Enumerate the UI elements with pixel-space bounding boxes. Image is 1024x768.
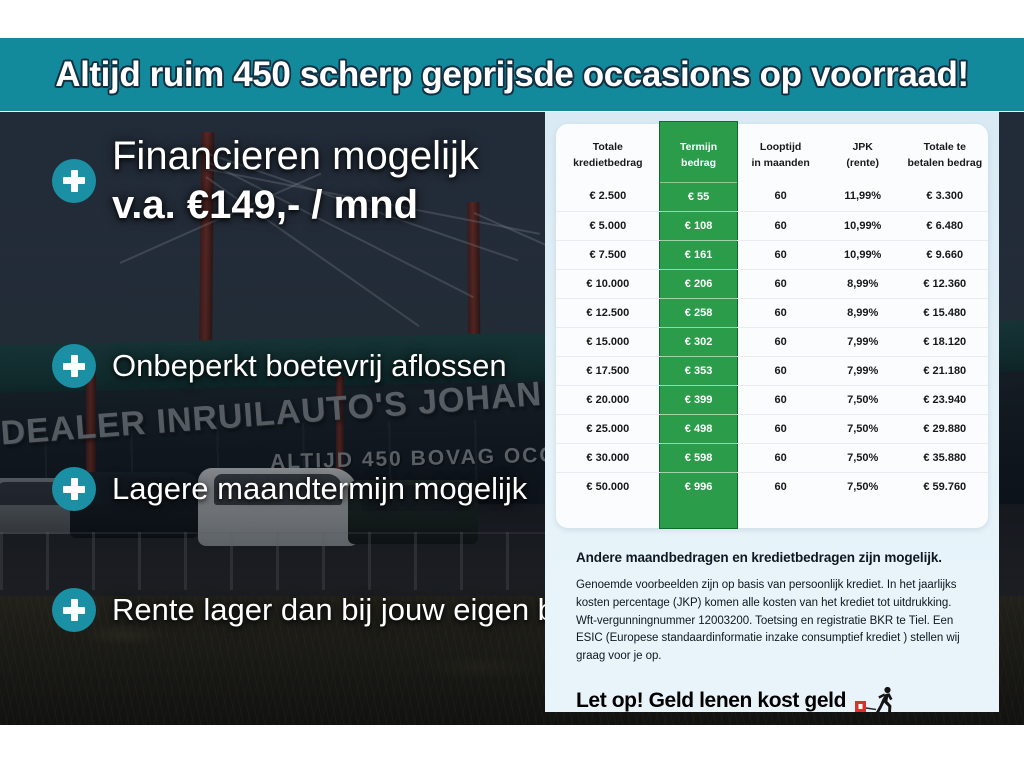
col-header-krediet-l1: Totale [593,141,623,153]
cell-termijn: € 498 [660,414,738,443]
benefit-label: Rente lager dan bij jouw eigen bank [112,590,605,630]
cell-looptijd: 60 [737,472,823,501]
headline-text: Altijd ruim 450 scherp geprijsde occasio… [55,55,969,95]
cell-totaal: € 59.760 [902,472,988,501]
table-row: € 7.500€ 1616010,99%€ 9.660 [556,240,988,269]
cell-krediet: € 30.000 [556,443,660,472]
table-row: € 10.000€ 206608,99%€ 12.360 [556,269,988,298]
plus-circle-icon [52,588,96,632]
col-header-looptijd-l1: Looptijd [760,141,801,153]
cell-totaal: € 21.180 [902,356,988,385]
disclaimer-body: Genoemde voorbeelden zijn op basis van p… [576,577,970,666]
cell-krediet: € 15.000 [556,327,660,356]
rate-table-body: € 2.500€ 556011,99%€ 3.300€ 5.000€ 10860… [556,182,988,501]
rate-table-card: Totale kredietbedrag Termijn bedrag Loop… [556,124,988,528]
cell-looptijd: 60 [737,182,823,211]
cell-krediet: € 17.500 [556,356,660,385]
disclaimer-title: Andere maandbedragen en kredietbedragen … [576,550,970,565]
benefit-item-financing: Financieren mogelijk v.a. €149,- / mnd [52,132,479,230]
cell-totaal: € 35.880 [902,443,988,472]
cell-jpk: 8,99% [824,298,902,327]
cell-termijn: € 55 [660,182,738,211]
benefit-hero-line-1: Financieren mogelijk [112,132,479,181]
cell-looptijd: 60 [737,385,823,414]
table-row: € 25.000€ 498607,50%€ 29.880 [556,414,988,443]
rate-table-header-row: Totale kredietbedrag Termijn bedrag Loop… [556,124,988,182]
col-header-totaal: Totale te betalen bedrag [902,124,988,182]
table-row: € 5.000€ 1086010,99%€ 6.480 [556,211,988,240]
cell-jpk: 7,50% [824,414,902,443]
cell-krediet: € 7.500 [556,240,660,269]
cell-totaal: € 23.940 [902,385,988,414]
cell-totaal: € 3.300 [902,182,988,211]
cell-totaal: € 9.660 [902,240,988,269]
rate-table: Totale kredietbedrag Termijn bedrag Loop… [556,124,988,501]
cell-termijn: € 353 [660,356,738,385]
cell-krediet: € 2.500 [556,182,660,211]
benefit-label: Lagere maandtermijn mogelijk [112,469,527,509]
cell-krediet: € 10.000 [556,269,660,298]
col-header-termijn: Termijn bedrag [660,124,738,182]
col-header-krediet-l2: kredietbedrag [573,157,642,169]
cell-totaal: € 15.480 [902,298,988,327]
cell-jpk: 7,50% [824,472,902,501]
col-header-jpk: JPK (rente) [824,124,902,182]
benefits-list: Financieren mogelijk v.a. €149,- / mnd O… [0,112,545,725]
col-header-totaal-l1: Totale te [924,141,966,153]
cell-termijn: € 161 [660,240,738,269]
finance-info-panel: Totale kredietbedrag Termijn bedrag Loop… [545,112,999,712]
table-row: € 20.000€ 399607,50%€ 23.940 [556,385,988,414]
cell-looptijd: 60 [737,327,823,356]
plus-circle-icon [52,467,96,511]
benefit-item-early-repayment: Onbeperkt boetevrij aflossen [52,344,507,388]
cell-krediet: € 20.000 [556,385,660,414]
cell-looptijd: 60 [737,414,823,443]
table-row: € 2.500€ 556011,99%€ 3.300 [556,182,988,211]
benefit-item-lower-interest: Rente lager dan bij jouw eigen bank [52,588,605,632]
cell-looptijd: 60 [737,443,823,472]
bottom-white-margin [0,725,1024,768]
cell-jpk: 7,99% [824,327,902,356]
table-row: € 50.000€ 996607,50%€ 59.760 [556,472,988,501]
afm-running-man-icon [854,686,896,716]
cell-looptijd: 60 [737,269,823,298]
col-header-looptijd-l2: in maanden [751,157,809,169]
headline-banner: Altijd ruim 450 scherp geprijsde occasio… [0,38,1024,111]
cell-termijn: € 399 [660,385,738,414]
benefit-item-lower-installment: Lagere maandtermijn mogelijk [52,467,527,511]
cell-totaal: € 18.120 [902,327,988,356]
cell-totaal: € 29.880 [902,414,988,443]
benefit-label: Onbeperkt boetevrij aflossen [112,346,507,386]
cell-jpk: 8,99% [824,269,902,298]
cell-termijn: € 258 [660,298,738,327]
plus-circle-icon [52,344,96,388]
cell-jpk: 10,99% [824,240,902,269]
table-row: € 30.000€ 598607,50%€ 35.880 [556,443,988,472]
cell-termijn: € 108 [660,211,738,240]
col-header-jpk-l1: JPK [852,141,872,153]
cell-looptijd: 60 [737,356,823,385]
table-row: € 17.500€ 353607,99%€ 21.180 [556,356,988,385]
cell-totaal: € 12.360 [902,269,988,298]
col-header-termijn-l1: Termijn [680,141,717,153]
cell-totaal: € 6.480 [902,211,988,240]
cell-krediet: € 5.000 [556,211,660,240]
table-row: € 12.500€ 258608,99%€ 15.480 [556,298,988,327]
cell-looptijd: 60 [737,211,823,240]
advertisement-canvas: Altijd ruim 450 scherp geprijsde occasio… [0,0,1024,768]
afm-warning: Let op! Geld lenen kost geld [556,666,988,716]
cell-looptijd: 60 [737,240,823,269]
cell-jpk: 7,99% [824,356,902,385]
cell-jpk: 7,50% [824,443,902,472]
cell-jpk: 7,50% [824,385,902,414]
cell-looptijd: 60 [737,298,823,327]
table-row: € 15.000€ 302607,99%€ 18.120 [556,327,988,356]
cell-krediet: € 12.500 [556,298,660,327]
cell-krediet: € 25.000 [556,414,660,443]
rate-table-head: Totale kredietbedrag Termijn bedrag Loop… [556,124,988,182]
cell-jpk: 10,99% [824,211,902,240]
top-white-margin [0,0,1024,38]
afm-warning-text: Let op! Geld lenen kost geld [576,689,846,713]
benefit-hero-line-2: v.a. €149,- / mnd [112,181,479,230]
benefit-hero-text: Financieren mogelijk v.a. €149,- / mnd [112,132,479,230]
cell-termijn: € 996 [660,472,738,501]
cell-jpk: 11,99% [824,182,902,211]
cell-termijn: € 206 [660,269,738,298]
col-header-jpk-l2: (rente) [846,157,879,169]
disclaimer-block: Andere maandbedragen en kredietbedragen … [556,528,988,666]
col-header-termijn-l2: bedrag [681,157,716,169]
cell-termijn: € 598 [660,443,738,472]
cell-termijn: € 302 [660,327,738,356]
col-header-krediet: Totale kredietbedrag [556,124,660,182]
plus-circle-icon [52,159,96,203]
cell-krediet: € 50.000 [556,472,660,501]
col-header-looptijd: Looptijd in maanden [737,124,823,182]
col-header-totaal-l2: betalen bedrag [907,157,982,169]
